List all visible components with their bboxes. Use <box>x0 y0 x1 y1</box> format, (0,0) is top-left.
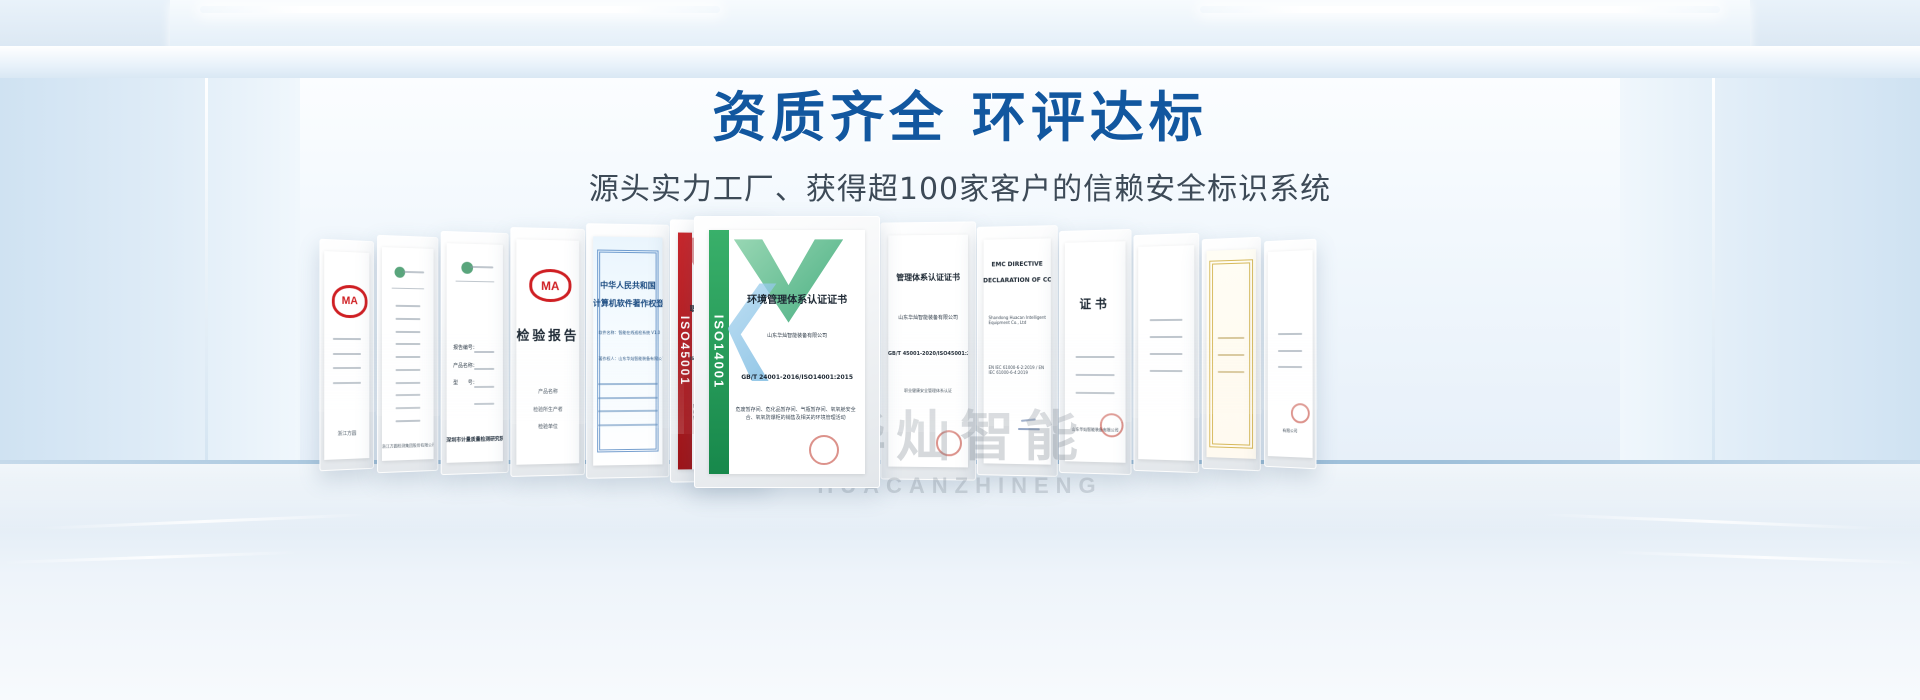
certificate-frame[interactable]: MA 检验报告 产品名称 检验所生产者 检验单位 <box>510 227 585 477</box>
certificate-title: 环境管理体系认证证书 <box>709 291 865 306</box>
certificate-title: 检验报告 <box>516 325 579 344</box>
certificate-paper <box>1139 245 1194 461</box>
certificate-title: 证书 <box>1065 294 1126 312</box>
certificate-mat: 报告编号： 产品名称： 型 号： 深圳市计量质量检测研究院 <box>446 243 503 463</box>
certificate-mat: MA 检验报告 产品名称 检验所生产者 检验单位 <box>516 240 579 465</box>
certificate-company: 有限公司 <box>1268 427 1312 434</box>
certificate-frame[interactable]: 中华人民共和国 计算机软件著作权登记证书 软件名称：智能在线巡检系统 V1.0 … <box>586 223 669 479</box>
certificate-footer: 浙江方圆检测集团股份有限公司 <box>382 442 433 450</box>
certificate-footer: 浙江方圆 <box>324 429 370 437</box>
certificate-frame[interactable]: MA 浙江方圆 <box>319 239 374 472</box>
certificate-field: 著作权人：山东华灿智能装备有限公司 <box>593 356 663 362</box>
certificate-seal-icon <box>809 435 839 465</box>
certificate-seal-icon <box>1291 403 1310 424</box>
ma-logo-icon: MA <box>529 269 571 302</box>
certificate-band-label: ISO45001 <box>678 316 692 386</box>
certificate-rack: MA 浙江方圆 <box>0 0 1920 700</box>
certificate-seal-icon <box>1100 414 1124 439</box>
certificate-field: 检验所生产者 <box>516 405 579 413</box>
certificate-mat <box>1206 249 1256 460</box>
certificate-footer: 检验单位 <box>516 423 579 431</box>
certificate-side-band: ISO14001 <box>709 230 729 475</box>
certificate-standard: EN IEC 61000-6-2:2019 / EN IEC 61000-6-4… <box>983 364 1051 374</box>
certificate-paper: ISO14001 环境管理体系认证证书 山东华灿智能装备有限公司 GB/T 24… <box>709 230 865 475</box>
certificate-company: 山东华灿智能装备有限公司 <box>709 332 865 339</box>
certificate-frame[interactable]: EMC DIRECTIVE DECLARATION OF CONFORMITY … <box>977 225 1058 477</box>
certificate-field: 软件名称：智能在线巡检系统 V1.0 <box>593 330 663 336</box>
signature-mark <box>1018 428 1040 430</box>
certificate-paper: 证书 山东华灿智能装备有限公司 <box>1065 241 1126 462</box>
certificate-scope: 危废暂存间、危化品暂存间、气瓶暂存间、氧氧舱安全合、氧氧防爆柜的销售及相关的环境… <box>709 406 865 422</box>
certificate-title: EMC DIRECTIVE <box>983 260 1051 268</box>
certificate-mat: ISO14001 环境管理体系认证证书 山东华灿智能装备有限公司 GB/T 24… <box>709 230 865 475</box>
certificate-field: 产品名称 <box>516 387 579 395</box>
certificate-paper: 报告编号： 产品名称： 型 号： 深圳市计量质量检测研究院 <box>446 243 503 463</box>
certificate-mat: MA 浙江方圆 <box>324 251 370 460</box>
certificate-seal-icon <box>936 430 962 456</box>
certificate-frame[interactable] <box>1133 233 1199 473</box>
certificate-mat: EMC DIRECTIVE DECLARATION OF CONFORMITY … <box>983 238 1051 464</box>
certificate-frame[interactable]: 管理体系认证证书 山东华灿智能装备有限公司 GB/T 45001-2020/IS… <box>880 221 976 480</box>
certificate-title: 中华人民共和国 <box>593 280 663 292</box>
certificate-frame[interactable]: 浙江方圆检测集团股份有限公司 <box>377 235 438 473</box>
certificate-standard: GB/T 24001-2016/ISO14001:2015 <box>709 374 865 381</box>
certificate-frame[interactable]: 有限公司 <box>1264 239 1316 470</box>
certificate-frame[interactable] <box>1202 237 1261 471</box>
certificate-mat: 证书 山东华灿智能装备有限公司 <box>1065 241 1126 462</box>
certificate-scope: 职业健康安全管理体系认证 <box>888 388 968 395</box>
certificate-mat <box>1139 245 1194 461</box>
certificate-paper: 浙江方圆检测集团股份有限公司 <box>382 247 433 461</box>
certificate-paper: 管理体系认证证书 山东华灿智能装备有限公司 GB/T 45001-2020/IS… <box>888 234 968 467</box>
certificate-paper: MA 浙江方圆 <box>324 251 370 460</box>
certificate-mat: 管理体系认证证书 山东华灿智能装备有限公司 GB/T 45001-2020/IS… <box>888 234 968 467</box>
banner-stage: 资质齐全 环评达标 源头实力工厂、获得超100家客户的信赖安全标识系统 MA 浙… <box>0 0 1920 700</box>
certificate-paper: EMC DIRECTIVE DECLARATION OF CONFORMITY … <box>983 238 1051 464</box>
ma-logo-icon: MA <box>332 284 367 318</box>
certificate-subtitle: 计算机软件著作权登记证书 <box>593 298 663 310</box>
signature-mark <box>1021 418 1036 422</box>
certificate-company: 山东华灿智能装备有限公司 <box>888 314 968 321</box>
certificate-company: Shandong Huacan Intelligent Equipment Co… <box>983 315 1051 325</box>
certificate-frame[interactable]: 报告编号： 产品名称： 型 号： 深圳市计量质量检测研究院 <box>441 231 509 475</box>
certificate-standard: GB/T 45001-2020/ISO45001:2018 <box>888 351 968 357</box>
certificate-frame[interactable]: ISO14001 环境管理体系认证证书 山东华灿智能装备有限公司 GB/T 24… <box>694 216 880 488</box>
certificate-paper: 有限公司 <box>1268 250 1312 457</box>
certificate-title: 管理体系认证证书 <box>888 272 968 284</box>
certificate-side-band: ISO45001 <box>678 233 692 470</box>
certificate-subtitle: DECLARATION OF CONFORMITY <box>983 276 1051 284</box>
certificate-mat: 浙江方圆检测集团股份有限公司 <box>382 247 433 461</box>
certificate-mat: 中华人民共和国 计算机软件著作权登记证书 软件名称：智能在线巡检系统 V1.0 … <box>593 236 663 466</box>
certificate-paper <box>1206 249 1256 460</box>
certificate-mat: 有限公司 <box>1268 250 1312 457</box>
certificate-paper: 中华人民共和国 计算机软件著作权登记证书 软件名称：智能在线巡检系统 V1.0 … <box>593 236 663 466</box>
certificate-paper: MA 检验报告 产品名称 检验所生产者 检验单位 <box>516 240 579 465</box>
certificate-footer: 深圳市计量质量检测研究院 <box>446 435 503 443</box>
certificate-frame[interactable]: 证书 山东华灿智能装备有限公司 <box>1059 229 1131 475</box>
